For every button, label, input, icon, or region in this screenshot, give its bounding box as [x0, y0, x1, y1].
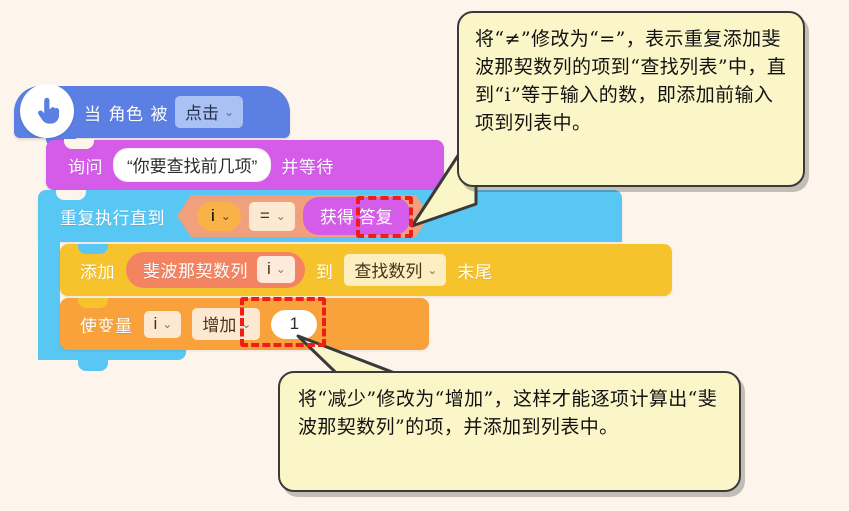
chevron-down-icon: ⌄: [241, 318, 251, 330]
ask-question-input[interactable]: “你要查找前几项”: [113, 148, 271, 182]
repeat-foot-notch: [78, 360, 108, 371]
block-add-to-list[interactable]: 添加 斐波那契数列 i ⌄ 到 查找数列 ⌄ 末尾: [60, 244, 672, 296]
chevron-down-icon: ⌄: [221, 210, 231, 222]
chevron-down-icon: ⌄: [427, 264, 437, 276]
callout-operator-note: 将“≠”修改为“=”，表示重复添加斐波那契数列的项到“查找列表”中，直到“i”等…: [457, 11, 805, 187]
ask-label: 询问: [68, 153, 103, 178]
hat-block-body[interactable]: 当 角色 被 点击 ⌄: [14, 86, 290, 138]
hand-click-icon: [20, 84, 74, 138]
list-dropdown[interactable]: 查找数列 ⌄: [344, 254, 446, 286]
scratch-canvas: 当 角色 被 点击 ⌄ 询问 “你要查找前几项” 并等待 重复执行直到 i: [0, 0, 849, 511]
callout-increase-note-text: 将“减少”修改为“增加”，这样才能逐项计算出“斐波那契数列”的项，并添加到列表中…: [298, 385, 725, 441]
repeat-until-label: 重复执行直到: [60, 204, 165, 229]
event-dropdown-value: 点击: [185, 99, 219, 124]
custom-block-argument[interactable]: i ⌄: [257, 256, 295, 283]
change-variable-name-value: i: [154, 314, 158, 334]
hat-label-sprite: 角色: [109, 100, 144, 125]
custom-block-name: 斐波那契数列: [143, 257, 248, 282]
callout-increase-note: 将“减少”修改为“增加”，这样才能逐项计算出“斐波那契数列”的项，并添加到列表中…: [278, 371, 741, 492]
list-dropdown-value: 查找数列: [354, 257, 422, 282]
change-variable-name-dropdown[interactable]: i ⌄: [144, 311, 182, 338]
repeat-inner-bottom-notch: [86, 332, 116, 343]
repeat-until-left-arm: [38, 242, 60, 332]
chevron-down-icon: ⌄: [162, 318, 172, 330]
sensing-answer-reporter[interactable]: 获得 答复: [303, 197, 410, 235]
repeat-top-notch: [56, 190, 86, 200]
hat-label-passive: 被: [151, 100, 169, 125]
chevron-down-icon: ⌄: [276, 263, 286, 275]
chevron-down-icon: ⌄: [224, 106, 234, 118]
add-top-notch: [78, 244, 108, 254]
hat-label-when: 当: [84, 100, 102, 125]
operator-dropdown-value: =: [260, 206, 270, 226]
callout-operator-note-text: 将“≠”修改为“=”，表示重复添加斐波那契数列的项到“查找列表”中，直到“i”等…: [475, 25, 789, 137]
change-variable-operation-value: 增加: [202, 311, 236, 336]
change-var-top-notch: [78, 298, 108, 308]
add-label: 添加: [80, 258, 115, 283]
chevron-down-icon: ⌄: [276, 210, 286, 222]
add-label-to: 到: [316, 258, 334, 283]
custom-block-fibonacci[interactable]: 斐波那契数列 i ⌄: [126, 252, 305, 288]
event-dropdown[interactable]: 点击 ⌄: [175, 96, 243, 128]
ask-label-and-wait: 并等待: [281, 153, 334, 178]
variable-reporter-i[interactable]: i ⌄: [197, 202, 241, 231]
variable-reporter-i-value: i: [211, 206, 215, 226]
repeat-until-header[interactable]: 重复执行直到 i ⌄ = ⌄ 获得 答复: [38, 190, 622, 242]
block-when-sprite-clicked[interactable]: 当 角色 被 点击 ⌄: [14, 86, 290, 138]
add-label-end: 末尾: [457, 258, 492, 283]
operator-dropdown[interactable]: = ⌄: [249, 202, 295, 231]
operator-equals-block[interactable]: i ⌄ = ⌄ 获得 答复: [177, 195, 430, 237]
ask-top-notch: [64, 139, 94, 149]
change-variable-operation-dropdown[interactable]: 增加 ⌄: [192, 308, 260, 340]
block-ask-and-wait[interactable]: 询问 “你要查找前几项” 并等待: [46, 140, 444, 190]
custom-block-argument-value: i: [267, 259, 271, 279]
